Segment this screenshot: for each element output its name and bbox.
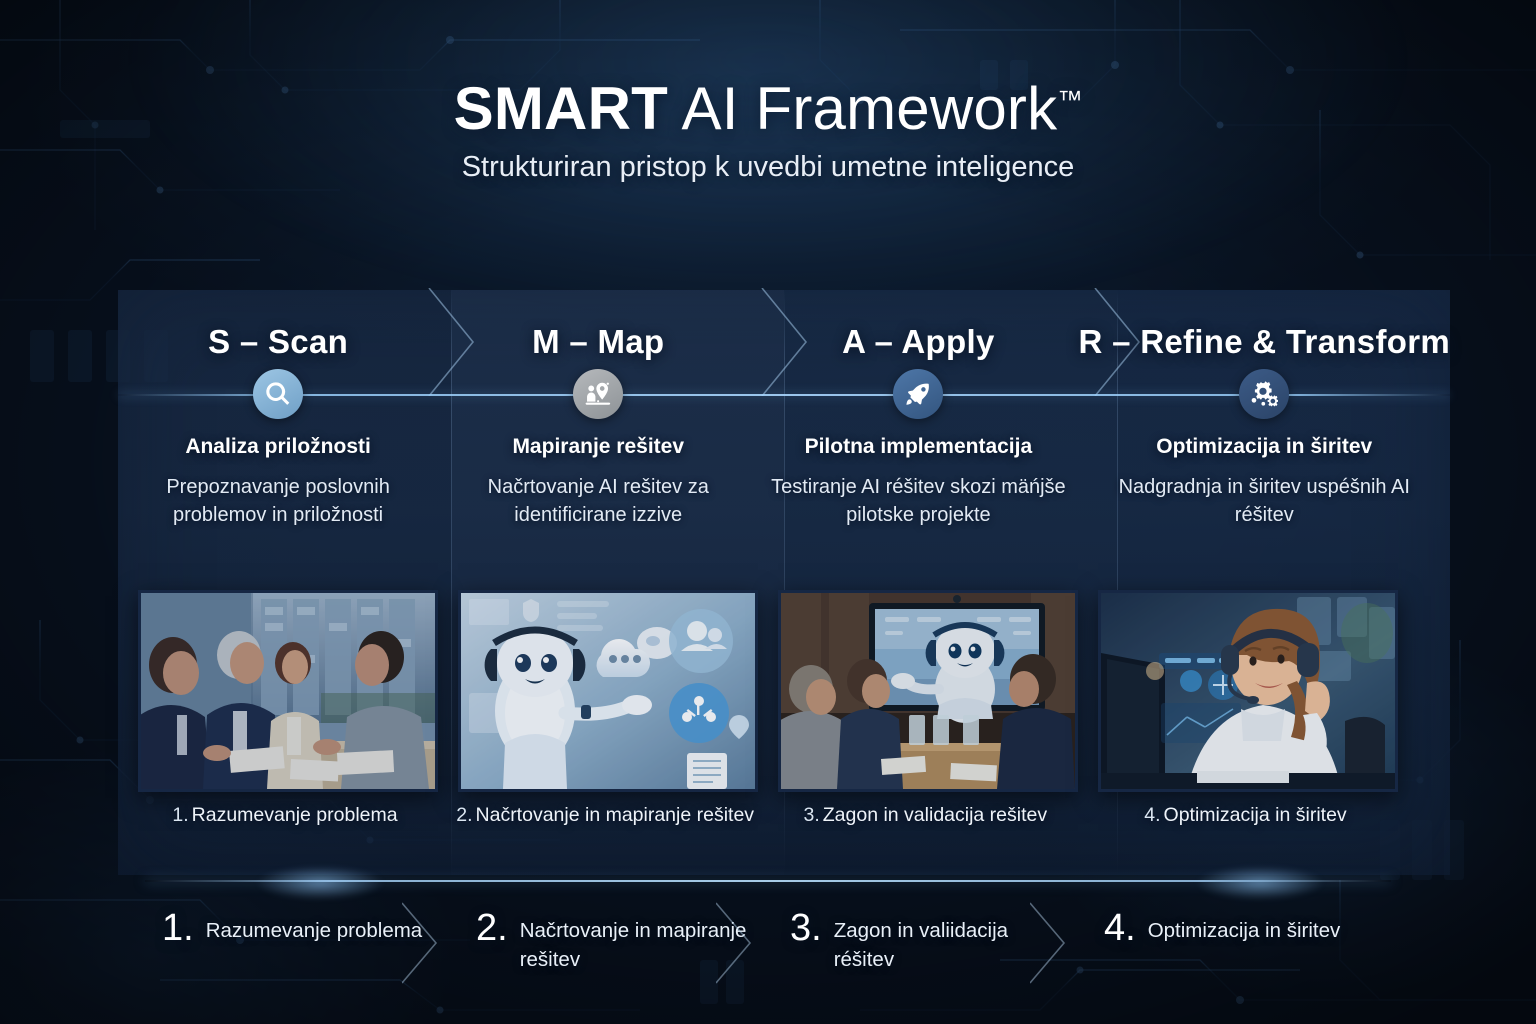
map-pin-person-icon [573,369,623,419]
framework-panel: S – Scan Analiza priložnosti Prepoznavan… [118,290,1450,875]
gears-icon [1239,369,1289,419]
stage-heading-label-scan: S – Scan [208,323,348,361]
stage-description-apply: Testiranje AI réšitev skozi mäńjše pilot… [768,473,1068,530]
stage-caption-scan: 1.Razumevanje problema [135,802,435,828]
search-icon [253,369,303,419]
process-step-number-1: 1. [162,909,194,947]
step-chevron-3 [1030,897,1090,989]
bottom-accent-rule [145,880,1391,882]
process-step-3[interactable]: 3. Zagon in valiidacija réšitev [768,895,1082,990]
page-subtitle: Strukturiran pristop k uvedbi umetne int… [0,151,1536,184]
stage-image-scan [138,590,438,792]
trademark-symbol: ™ [1057,86,1082,114]
process-step-label-4: Optimizacija in širitev [1148,909,1341,945]
stage-description-map: Načrtovanje AI rešitev za identificirane… [448,473,748,530]
header: SMART AI Framework™ Strukturiran pristop… [0,0,1536,184]
business-meeting-illustration [141,593,435,789]
headset-support-agent-illustration [1101,593,1395,789]
stage-caption-text-apply: Zagon in validacija rešitev [823,804,1047,826]
stage-caption-number-refine: 4. [1144,804,1160,826]
rocket-icon [893,369,943,419]
step-chevron-1 [402,897,462,989]
boardroom-robot-screen-illustration [781,593,1075,789]
stage-column-refine[interactable]: R – Refine & Transform Optimizacija in š… [1078,290,1450,875]
process-step-4[interactable]: 4. Optimizacija in širitev [1082,895,1396,990]
process-steps-strip: 1. Razumevanje problema 2. Načrtovanje i… [140,895,1396,990]
process-step-number-3: 3. [790,909,822,947]
search-icon-glyph [264,380,292,408]
rocket-icon-glyph [904,380,932,408]
stage-description-refine: Nadgradnja in širitev uspéšnih AI réšite… [1114,473,1414,530]
stage-image-refine [1098,590,1398,792]
stage-column-map[interactable]: M – Map Mapiranje rešitev Načrtovanje AI… [438,290,758,875]
stage-caption-apply: 3.Zagon in validacija rešitev [775,802,1075,828]
stage-title-map: Mapiranje rešitev [504,435,692,459]
ai-robot-presenting-illustration [461,593,755,789]
columns-container: S – Scan Analiza priložnosti Prepoznavan… [118,290,1450,875]
stage-heading-label-refine: R – Refine & Transform [1078,323,1450,361]
stage-heading-label-map: M – Map [532,323,664,361]
stage-column-apply[interactable]: A – Apply Pilotna implementacija Testira… [758,290,1078,875]
title-strong: SMART [454,75,668,142]
stage-description-scan: Prepoznavanje poslovnih problemov in pri… [128,473,428,530]
stage-heading-label-apply: A – Apply [842,323,994,361]
process-step-2[interactable]: 2. Načrtovanje in mapiranje rešitev [454,895,768,990]
stage-title-apply: Pilotna implementacija [797,435,1041,459]
stage-caption-map: 2.Načrtovanje in mapiranje rešitev [455,802,755,828]
process-step-number-2: 2. [476,909,508,947]
stage-caption-number-scan: 1. [172,804,188,826]
map-pin-person-icon-glyph [584,380,612,408]
page-title: SMART AI Framework™ [0,0,1536,139]
gears-icon-glyph [1250,380,1278,408]
stage-image-apply [778,590,1078,792]
stage-caption-number-map: 2. [456,804,472,826]
stage-caption-number-apply: 3. [803,804,819,826]
stage-caption-text-scan: Razumevanje problema [192,804,398,826]
step-chevron-2 [716,897,776,989]
stage-caption-text-refine: Optimizacija in širitev [1164,804,1347,826]
stage-title-scan: Analiza priložnosti [177,435,379,459]
process-step-1[interactable]: 1. Razumevanje problema [140,895,454,990]
process-step-number-4: 4. [1104,909,1136,947]
stage-caption-refine: 4.Optimizacija in širitev [1095,802,1395,828]
stage-caption-text-map: Načrtovanje in mapiranje rešitev [476,804,755,826]
title-rest: AI Framework [668,75,1057,142]
process-step-label-1: Razumevanje problema [206,909,423,945]
stage-title-refine: Optimizacija in širitev [1148,435,1380,459]
stage-column-scan[interactable]: S – Scan Analiza priložnosti Prepoznavan… [118,290,438,875]
stage-image-map [458,590,758,792]
